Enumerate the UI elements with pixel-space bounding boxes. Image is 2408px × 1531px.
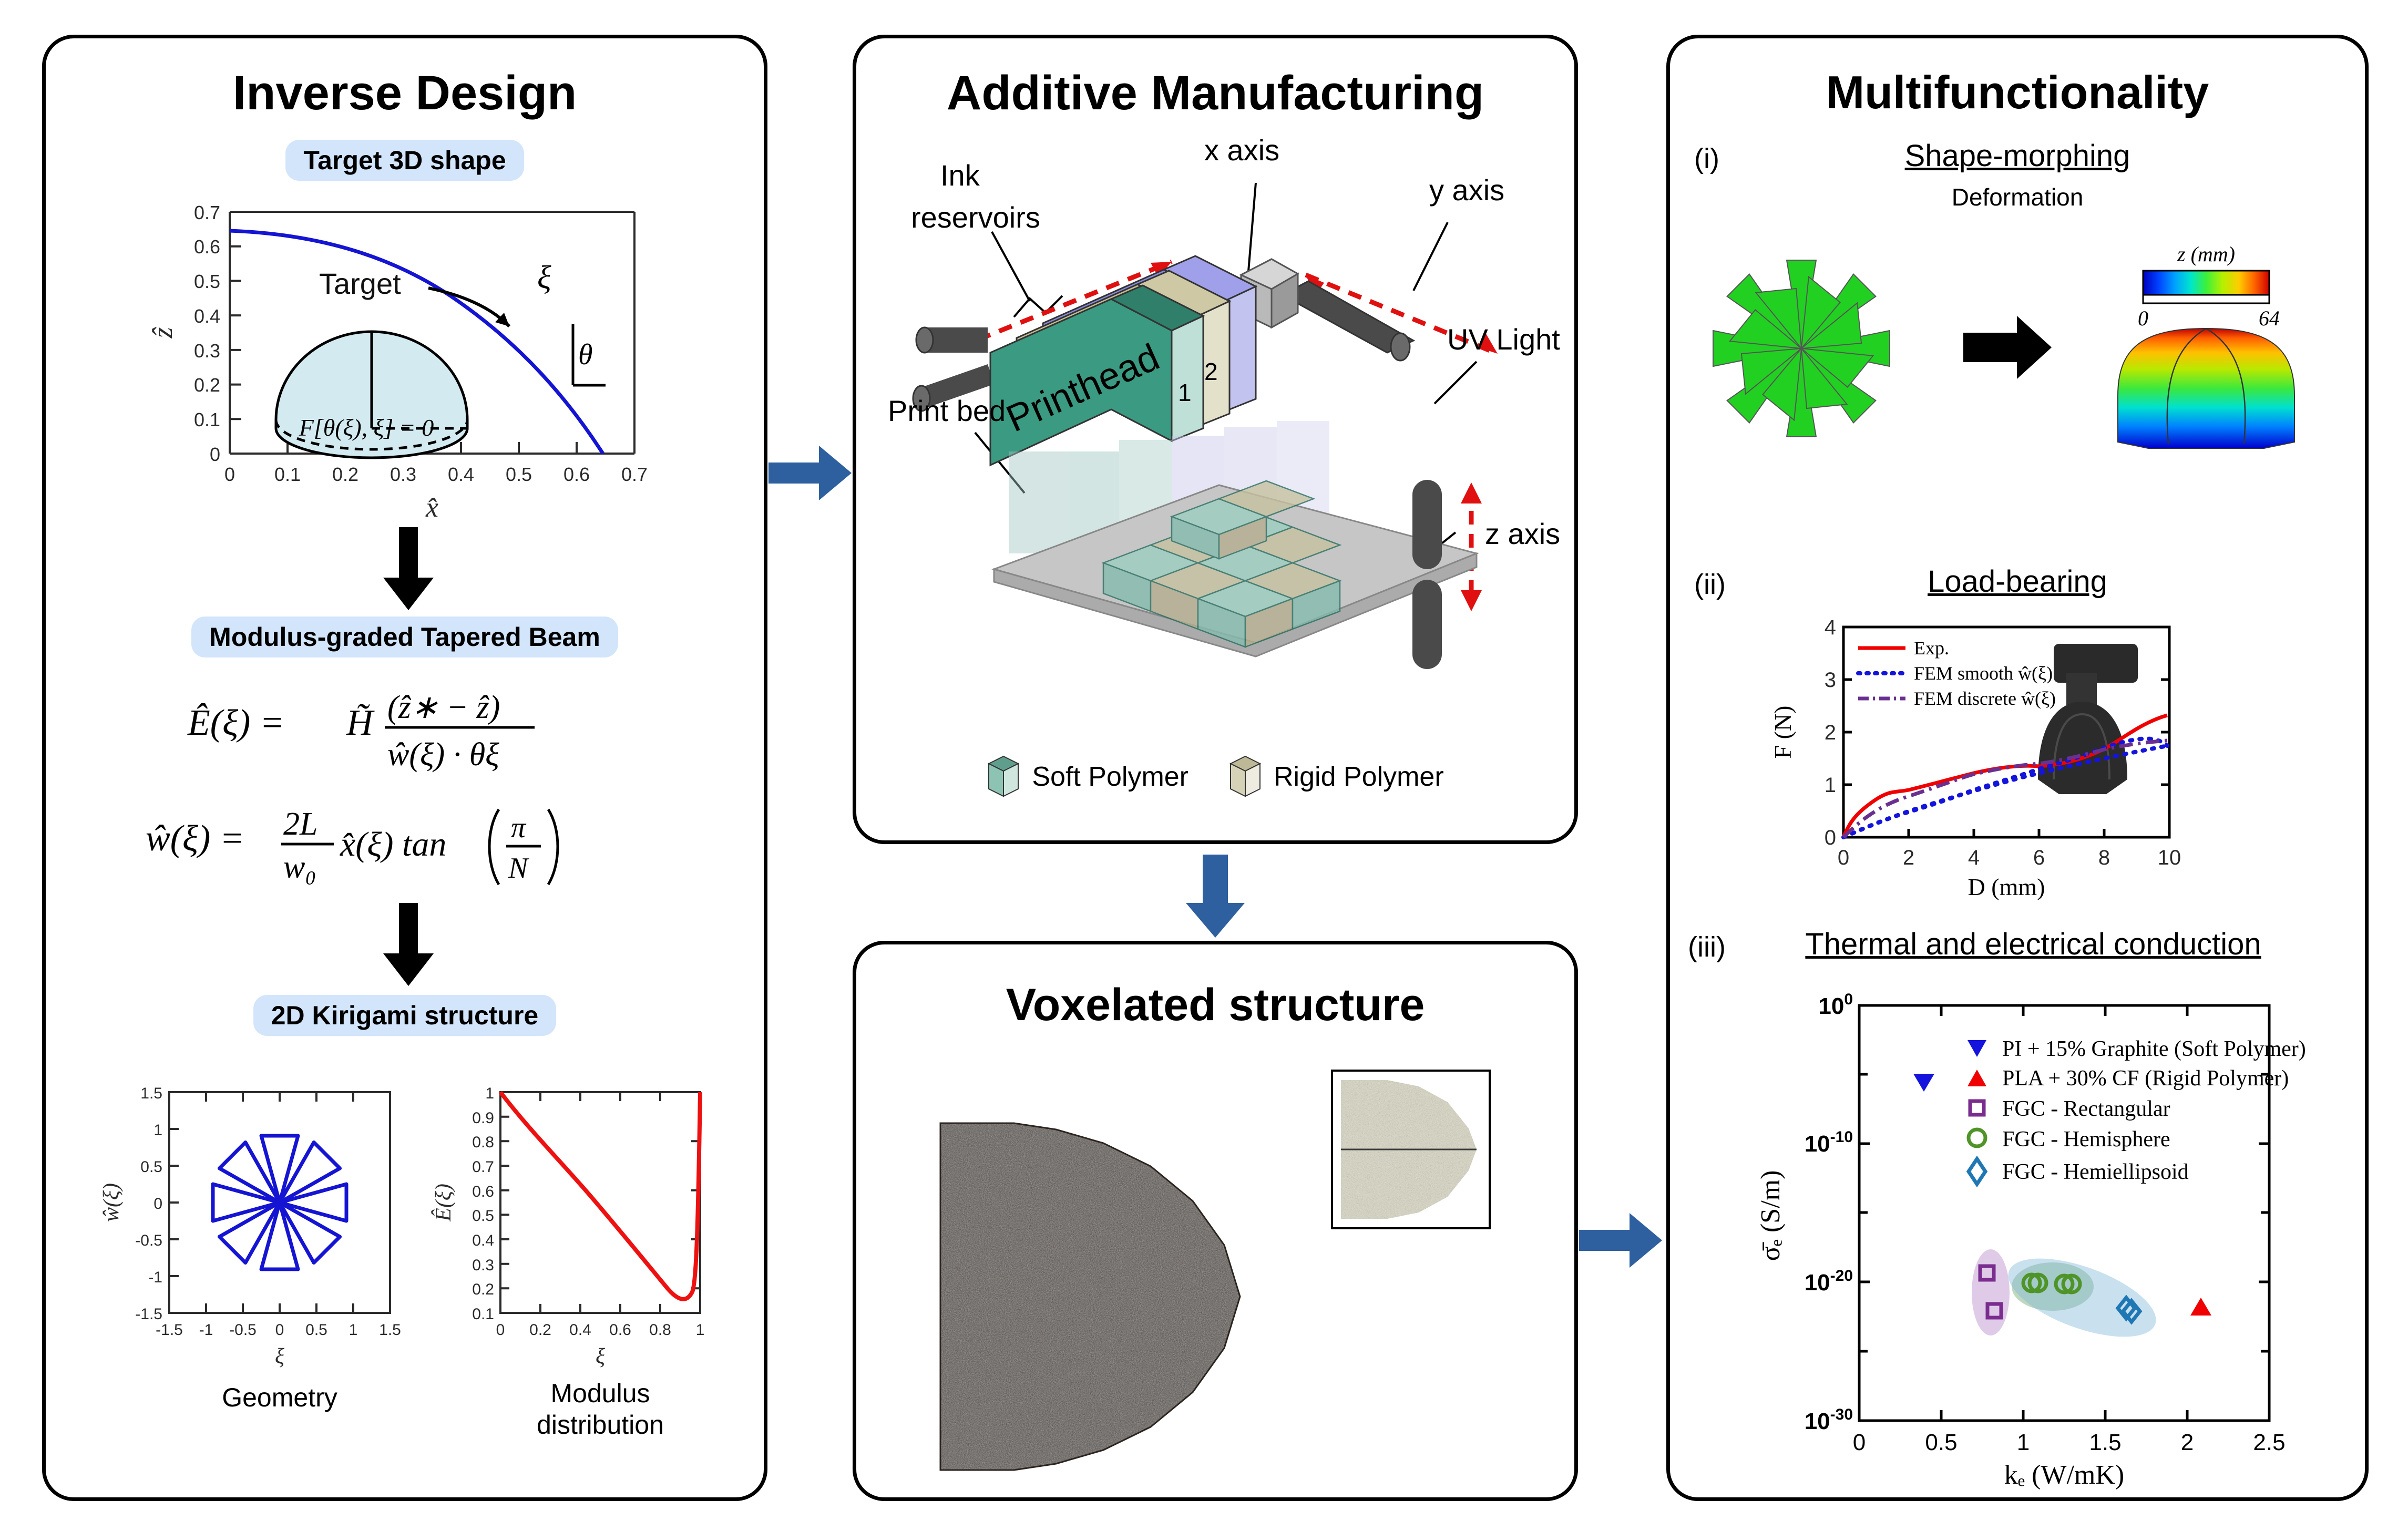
legend-item-rigid-polymer: Rigid Polymer xyxy=(1228,753,1444,800)
nozzle-label-2: 2 xyxy=(1204,358,1218,385)
te-tick-y-1e-10: 10-10 xyxy=(1805,1128,1853,1157)
section-index-ii: (ii) xyxy=(1694,568,1726,601)
cluster-ellipse-rectangular xyxy=(1972,1249,2010,1335)
geom-tick-y-1.5: 1.5 xyxy=(140,1085,162,1102)
axis-label-y: ẑ xyxy=(147,327,178,339)
mod-tick-x-0.4: 0.4 xyxy=(569,1321,591,1339)
te-tick-y-1e0: 100 xyxy=(1818,991,1853,1019)
legend-label-fgc-hemisphere: FGC - Hemisphere xyxy=(2002,1127,2170,1152)
mod-tick-y-0.5: 0.5 xyxy=(472,1207,494,1225)
geom-tick-x--0.5: -0.5 xyxy=(229,1321,257,1339)
label-z-axis: z axis xyxy=(1485,517,1560,550)
chart-kirigami-geometry: 1.5 1 0.5 0 -0.5 -1 -1.5 -1.5 -1 -0.5 0 … xyxy=(77,1066,414,1444)
mod-tick-y-0.4: 0.4 xyxy=(472,1232,494,1249)
soft-polymer-cube-icon xyxy=(987,753,1020,800)
label-print-bed: Print bed xyxy=(888,394,1006,427)
te-tick-y-1e-20: 10-20 xyxy=(1805,1267,1853,1296)
modulus-curve xyxy=(500,1092,700,1299)
lb-tick-y-3: 3 xyxy=(1825,669,1836,692)
section-title-thermal-electrical: Thermal and electrical conduction xyxy=(1805,927,2261,961)
geom-tick-x--1: -1 xyxy=(199,1321,213,1339)
geom-tick-y--1.5: -1.5 xyxy=(135,1306,162,1323)
tick-x-0.7: 0.7 xyxy=(621,464,648,485)
geom-tick-x-1.5: 1.5 xyxy=(379,1321,401,1339)
geom-axis-label-y: ŵ(ξ) xyxy=(99,1183,124,1222)
tick-y-0.6: 0.6 xyxy=(194,236,220,258)
tick-x-0: 0 xyxy=(224,464,235,485)
legend-label-soft-polymer: Soft Polymer xyxy=(1032,761,1188,793)
shape-morphing-subtitle: Deformation xyxy=(1952,183,2084,211)
equation-2-paren-right xyxy=(548,809,558,885)
te-axis-label-x: kₑ (W/mK) xyxy=(2004,1460,2125,1490)
flow-arrow-down-3 xyxy=(1184,855,1247,939)
mod-tick-x-0: 0 xyxy=(496,1321,505,1339)
lb-tick-y-2: 2 xyxy=(1825,721,1836,744)
lb-tick-x-0: 0 xyxy=(1838,846,1849,869)
mod-axis-label-y: Ê(ξ) xyxy=(431,1184,456,1222)
tick-y-0.3: 0.3 xyxy=(194,340,220,362)
equation-2-lhs: ŵ(ξ) = xyxy=(146,818,244,859)
geom-tick-x-1: 1 xyxy=(349,1321,358,1339)
geom-tick-x-0: 0 xyxy=(275,1321,284,1339)
tick-x-0.5: 0.5 xyxy=(506,464,532,485)
chart-target-shape: 0.7 0.6 0.5 0.4 0.3 0.2 0.1 0 0 0.1 0.2 … xyxy=(104,191,713,527)
legend-marker-fgc-hemiellipsoid xyxy=(1969,1159,1985,1184)
lb-tick-x-4: 4 xyxy=(1968,846,1980,869)
step-label-target-shape: Target 3D shape xyxy=(285,140,524,181)
mod-tick-y-0.1: 0.1 xyxy=(472,1306,494,1323)
geom-tick-x-0.5: 0.5 xyxy=(305,1321,327,1339)
legend-label-fgc-hemiellipsoid: FGC - Hemiellipsoid xyxy=(2002,1160,2189,1184)
load-bearing-legend: Exp. FEM smooth ŵ(ξ) FEM discrete ŵ(ξ) xyxy=(1858,638,2056,709)
mod-tick-x-1: 1 xyxy=(696,1321,705,1339)
geom-tick-y--1: -1 xyxy=(148,1269,162,1286)
section-title-shape-morphing: Shape-morphing xyxy=(1905,139,2130,173)
label-uv-light: UV Light xyxy=(1447,323,1560,356)
mod-caption-line1: Modulus xyxy=(551,1379,650,1408)
voxel-specimen-photo xyxy=(930,1118,1256,1481)
mod-tick-x-0.2: 0.2 xyxy=(529,1321,551,1339)
panel-title-voxelated: Voxelated structure xyxy=(856,979,1574,1031)
flow-arrow-right-1 xyxy=(768,441,853,505)
colorbar-min-label: 0 xyxy=(2138,306,2148,330)
label-y-axis: y axis xyxy=(1429,173,1504,207)
legend-marker-fgc-hemisphere xyxy=(1969,1129,1985,1146)
lb-tick-x-10: 10 xyxy=(2158,846,2181,869)
legend-marker-pi-graphite xyxy=(1968,1040,1986,1057)
annotation-xi: ξ xyxy=(537,260,551,295)
tick-x-0.2: 0.2 xyxy=(332,464,358,485)
mod-tick-y-0.7: 0.7 xyxy=(472,1158,494,1176)
panel-title-additive-manufacturing: Additive Manufacturing xyxy=(856,66,1574,121)
lb-axis-label-x: D (mm) xyxy=(1968,874,2045,900)
chart-load-bearing: 4 3 2 1 0 0 2 4 6 8 10 D (mm) F (N) xyxy=(1738,611,2317,906)
panel-title-inverse-design: Inverse Design xyxy=(46,66,764,121)
cluster-ellipse-hemiellipsoid xyxy=(1999,1242,2166,1353)
mod-axis-label-x: ξ xyxy=(596,1344,605,1369)
te-tick-x-2.5: 2.5 xyxy=(2253,1430,2285,1455)
mod-tick-x-0.8: 0.8 xyxy=(649,1321,671,1339)
section-shape-morphing: (i) Shape-morphing Deformation xyxy=(1670,138,2365,211)
geom-tick-y--0.5: -0.5 xyxy=(135,1232,162,1249)
step-label-kirigami-wrap: 2D Kirigami structure xyxy=(46,995,764,1036)
tick-y-0.7: 0.7 xyxy=(194,202,220,223)
panel-inverse-design: Inverse Design Target 3D shape xyxy=(42,35,767,1501)
label-ink-reservoirs-line1: Ink xyxy=(940,159,980,192)
geom-tick-y-1: 1 xyxy=(153,1122,162,1139)
section-thermal-electrical: (iii) Thermal and electrical conduction xyxy=(1670,927,2365,962)
tick-x-0.6: 0.6 xyxy=(563,464,590,485)
tick-y-0.4: 0.4 xyxy=(194,305,220,327)
section-load-bearing: (ii) Load-bearing xyxy=(1670,564,2365,599)
flow-arrow-right-2 xyxy=(1579,1209,1663,1272)
equation-1-H: H̃ xyxy=(346,703,375,743)
geom-axis-label-x: ξ xyxy=(275,1344,284,1369)
mod-tick-y-0.3: 0.3 xyxy=(472,1257,494,1274)
equation-2-frac-denominator: w₀ xyxy=(283,849,316,885)
equation-2-pi: π xyxy=(511,811,527,844)
voxelated-render xyxy=(856,1050,1582,1486)
lb-tick-y-0: 0 xyxy=(1825,826,1836,849)
equation-1-denominator: ŵ(ξ) · θξ xyxy=(387,737,499,773)
ink-reservoir-bracket xyxy=(1014,296,1062,317)
flow-arrow-down-1 xyxy=(377,527,440,611)
te-tick-x-1.5: 1.5 xyxy=(2089,1430,2121,1455)
tick-x-0.1: 0.1 xyxy=(274,464,301,485)
lb-tick-x-8: 8 xyxy=(2098,846,2110,869)
mod-tick-y-0.2: 0.2 xyxy=(472,1281,494,1298)
voxel-map-inset xyxy=(1332,1071,1490,1228)
geom-tick-y-0: 0 xyxy=(153,1195,162,1213)
chart-modulus-distribution: 1 0.9 0.8 0.7 0.6 0.5 0.4 0.3 0.2 0.1 0 … xyxy=(408,1066,745,1476)
legend-label-exp: Exp. xyxy=(1914,638,1949,659)
mod-tick-y-0.8: 0.8 xyxy=(472,1134,494,1151)
mod-tick-y-0.9: 0.9 xyxy=(472,1109,494,1127)
axis-label-x: x̂ xyxy=(425,491,438,523)
rigid-polymer-cube-icon xyxy=(1228,753,1262,800)
annotation-constraint-equation: F[θ(ξ), ξ] = 0 xyxy=(299,414,434,441)
leader-y-axis xyxy=(1413,222,1448,291)
equation-1-numerator: (ẑ∗ − ẑ) xyxy=(387,690,500,725)
legend-label-fem-smooth: FEM smooth ŵ(ξ) xyxy=(1914,663,2053,684)
morph-arrow xyxy=(1963,316,2052,379)
datapoint-pi-graphite xyxy=(1913,1074,1934,1092)
legend-label-pla-cf: PLA + 30% CF (Rigid Polymer) xyxy=(2002,1066,2289,1091)
lb-tick-y-1: 1 xyxy=(1825,774,1836,797)
tick-y-0.2: 0.2 xyxy=(194,374,220,396)
equation-1-lhs: Ê(ξ) = xyxy=(187,703,284,743)
tick-x-0.4: 0.4 xyxy=(448,464,474,485)
panel-additive-manufacturing: Additive Manufacturing xyxy=(853,35,1578,844)
section-title-load-bearing: Load-bearing xyxy=(1928,564,2107,599)
flat-kirigami-shape xyxy=(1713,260,1890,437)
geom-tick-x--1.5: -1.5 xyxy=(156,1321,183,1339)
section-index-iii: (iii) xyxy=(1688,931,1726,963)
legend-label-pi-graphite: PI + 15% Graphite (Soft Polymer) xyxy=(2002,1037,2306,1061)
lb-axis-label-y: F (N) xyxy=(1769,706,1796,759)
te-tick-x-2: 2 xyxy=(2181,1430,2194,1455)
leader-ink-reservoirs xyxy=(992,232,1030,301)
mod-tick-y-1: 1 xyxy=(485,1085,494,1102)
legend-marker-pla-cf xyxy=(1968,1070,1986,1086)
leader-x-axis xyxy=(1248,183,1256,278)
panel-multifunctionality: Multifunctionality (i) Shape-morphing De… xyxy=(1666,35,2369,1501)
tick-x-0.3: 0.3 xyxy=(390,464,416,485)
annotation-target-label: Target xyxy=(319,267,401,300)
kirigami-petals xyxy=(213,1136,346,1269)
mod-caption-line2: distribution xyxy=(537,1410,664,1440)
legend-label-fgc-rect: FGC - Rectangular xyxy=(2002,1097,2170,1121)
flow-arrow-down-2 xyxy=(377,903,440,987)
geom-tick-y-0.5: 0.5 xyxy=(140,1158,162,1176)
tick-y-0.1: 0.1 xyxy=(194,409,220,430)
step-label-modulus-beam: Modulus-graded Tapered Beam xyxy=(191,616,618,657)
equation-2-frac-numerator: 2L xyxy=(283,806,317,842)
material-legend: Soft Polymer Rigid Polymer xyxy=(856,753,1574,800)
geom-caption: Geometry xyxy=(222,1383,337,1412)
step-label-modulus-beam-wrap: Modulus-graded Tapered Beam xyxy=(46,616,764,657)
te-axis-label-y: σ̄ₑ (S/m) xyxy=(1756,1170,1786,1261)
label-x-axis: x axis xyxy=(1204,133,1279,167)
te-tick-x-0.5: 0.5 xyxy=(1925,1430,1957,1455)
lb-tick-x-6: 6 xyxy=(2033,846,2045,869)
te-tick-x-1: 1 xyxy=(2017,1430,2030,1455)
equation-block: Ê(ξ) = H̃ (ẑ∗ − ẑ) ŵ(ξ) · θξ ŵ(ξ) = 2L w… xyxy=(46,677,764,898)
equation-2-mid: x̂(ξ) tan xyxy=(340,825,446,864)
lb-tick-x-2: 2 xyxy=(1903,846,1914,869)
z-axis-arrow xyxy=(1461,482,1482,611)
legend-label-fem-discrete: FEM discrete ŵ(ξ) xyxy=(1914,688,2056,709)
annotation-theta: θ xyxy=(578,338,593,371)
equation-2-paren-left xyxy=(489,809,499,885)
chart-thermal-electrical: 100 10-10 10-20 10-30 0 0.5 1 1.5 2 2.5 … xyxy=(1702,979,2364,1505)
reservoir-plate-1-printhead: Printhead 1 xyxy=(990,285,1203,465)
datapoint-pla-cf xyxy=(2190,1298,2211,1316)
panel-title-multifunctionality: Multifunctionality xyxy=(1670,66,2365,119)
nozzle-label-1: 1 xyxy=(1178,379,1192,406)
thermal-electrical-legend: PI + 15% Graphite (Soft Polymer) PLA + 3… xyxy=(1968,1037,2306,1184)
printer-diagram: 2 Printhead 1 xyxy=(856,117,1582,764)
te-tick-y-1e-30: 10-30 xyxy=(1805,1406,1853,1434)
shape-morphing-figure: z (mm) xyxy=(1670,238,2372,448)
step-label-target-shape-wrap: Target 3D shape xyxy=(46,140,764,181)
mod-tick-x-0.6: 0.6 xyxy=(609,1321,631,1339)
morphed-dome-render xyxy=(2118,328,2294,448)
panel-voxelated-structure: Voxelated structure xyxy=(853,941,1578,1501)
colorbar-max-label: 64 xyxy=(2259,306,2280,330)
leader-uv-light xyxy=(1434,362,1477,404)
step-label-kirigami: 2D Kirigami structure xyxy=(253,995,556,1036)
section-index-i: (i) xyxy=(1694,142,1719,175)
colorbar: z (mm) xyxy=(2138,242,2280,330)
legend-item-soft-polymer: Soft Polymer xyxy=(987,753,1188,800)
equation-2-N: N xyxy=(508,852,529,885)
legend-marker-fgc-rect xyxy=(1970,1101,1984,1115)
tick-y-0.5: 0.5 xyxy=(194,271,220,292)
te-tick-x-0: 0 xyxy=(1853,1430,1866,1455)
colorbar-title: z (mm) xyxy=(2177,242,2235,266)
mod-tick-y-0.6: 0.6 xyxy=(472,1183,494,1200)
label-ink-reservoirs-line2: reservoirs xyxy=(911,201,1040,234)
tick-y-0: 0 xyxy=(210,444,220,465)
legend-label-rigid-polymer: Rigid Polymer xyxy=(1274,761,1444,793)
lb-tick-y-4: 4 xyxy=(1825,616,1836,639)
